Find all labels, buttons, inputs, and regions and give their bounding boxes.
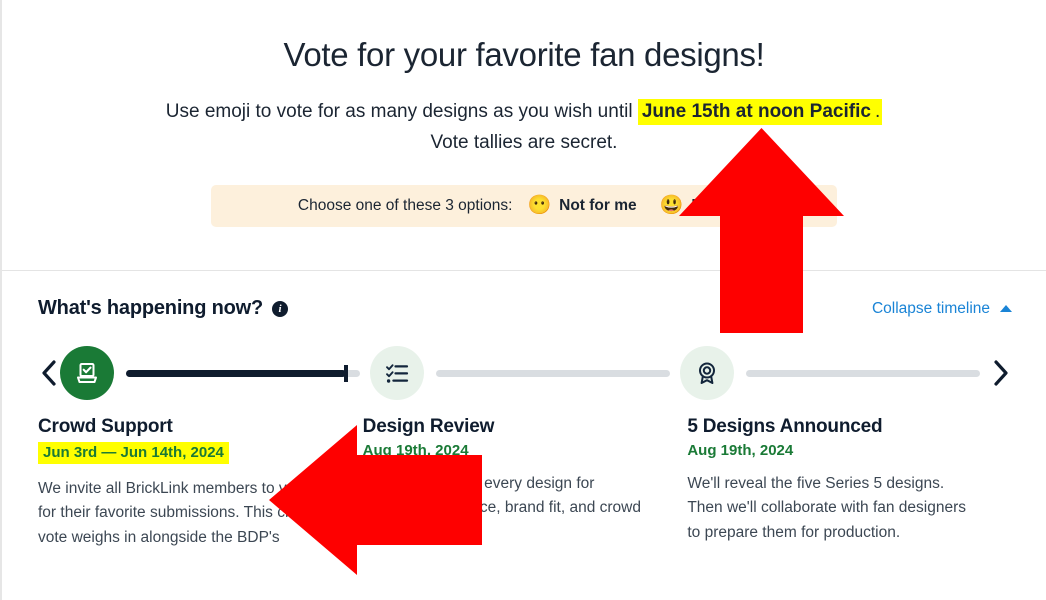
card-body: We invite all BrickLink members to vote … (38, 477, 319, 550)
timeline-connector-3 (746, 370, 980, 377)
timeline-heading: What's happening now? i (38, 297, 288, 320)
neutral-face-emoji: 😶 (527, 196, 551, 215)
timeline-next-button[interactable] (990, 360, 1012, 386)
chevron-right-icon (993, 360, 1009, 386)
timeline-card-design-review: Design Review Aug 19th, 2024 Our team ch… (363, 416, 688, 550)
card-title: 5 Designs Announced (687, 416, 968, 438)
collapse-timeline-label: Collapse timeline (872, 300, 990, 318)
timeline-card-crowd-support: Crowd Support Jun 3rd — Jun 14th, 2024 W… (38, 416, 363, 550)
card-title: Design Review (363, 416, 644, 438)
timeline-connector-2 (436, 370, 670, 377)
timeline-node-pending[interactable] (680, 346, 734, 400)
vote-option-label: Not for me (559, 197, 637, 215)
ballot-box-check-icon (73, 359, 101, 387)
award-ribbon-icon (694, 360, 720, 386)
deadline-period: . (875, 99, 882, 125)
card-date: Aug 19th, 2024 (687, 442, 793, 459)
checklist-icon (384, 360, 410, 386)
chevron-up-icon (1000, 305, 1012, 312)
card-date: Jun 3rd — Jun 14th, 2024 (38, 442, 229, 464)
timeline-step-designs-announced[interactable] (680, 346, 990, 400)
vote-option-not-for-me[interactable]: 😶 Not for me (527, 196, 636, 215)
hero-subtitle-prefix: Use emoji to vote for as many designs as… (166, 101, 638, 122)
vote-option-label: Like it (691, 197, 736, 215)
timeline-heading-text: What's happening now? (38, 297, 263, 320)
card-title: Crowd Support (38, 416, 319, 438)
timeline-prev-button[interactable] (38, 360, 60, 386)
timeline-header: What's happening now? i Collapse timelin… (2, 297, 1046, 320)
info-icon[interactable]: i (272, 301, 288, 317)
vote-option-like-it[interactable]: 😃 Like it (660, 196, 736, 215)
hero-subtitle-line2: Vote tallies are secret. (431, 132, 618, 153)
vote-options-bar: Choose one of these 3 options: 😶 Not for… (211, 185, 837, 227)
hero-section: Vote for your favorite fan designs! Use … (2, 0, 1046, 271)
page-title: Vote for your favorite fan designs! (22, 34, 1026, 75)
vote-options-label: Choose one of these 3 options: (298, 197, 513, 215)
page-root: Vote for your favorite fan designs! Use … (0, 0, 1046, 600)
timeline-node-done[interactable] (60, 346, 114, 400)
chevron-left-icon (41, 360, 57, 386)
timeline-step-crowd-support[interactable] (60, 346, 370, 400)
timeline-track (2, 342, 1046, 404)
card-body: Our team checks every design for buildin… (363, 472, 644, 545)
grinning-face-emoji: 😃 (660, 196, 684, 215)
hero-subtitle: Use emoji to vote for as many designs as… (114, 97, 934, 159)
collapse-timeline-button[interactable]: Collapse timeline (872, 300, 1012, 318)
card-body: We'll reveal the five Series 5 designs. … (687, 472, 968, 545)
timeline-node-pending[interactable] (370, 346, 424, 400)
timeline-step-design-review[interactable] (370, 346, 680, 400)
card-date: Aug 19th, 2024 (363, 442, 469, 459)
timeline-steps (60, 346, 990, 400)
timeline-cards: Crowd Support Jun 3rd — Jun 14th, 2024 W… (2, 416, 1046, 550)
deadline-highlight: June 15th at noon Pacific (638, 99, 875, 125)
timeline-connector-1 (126, 370, 360, 377)
timeline-section: What's happening now? i Collapse timelin… (2, 271, 1046, 550)
timeline-card-designs-announced: 5 Designs Announced Aug 19th, 2024 We'll… (687, 416, 1012, 550)
